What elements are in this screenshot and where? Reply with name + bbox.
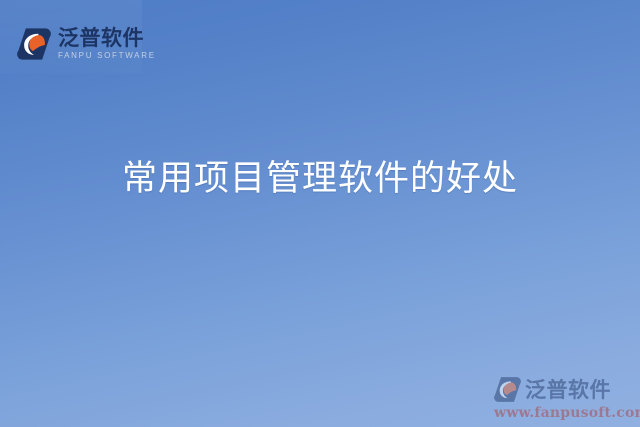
fanpu-hexagon-swoosh-logo-icon (17, 27, 51, 61)
brand-wordmark: 泛普软件 FANPU SOFTWARE (58, 28, 156, 60)
brand-name-en: FANPU SOFTWARE (58, 52, 156, 60)
watermark-url: www.fanpusoft.com (494, 405, 634, 421)
watermark: 泛普软件 www.fanpusoft.com (494, 374, 634, 421)
title-block: 常用项目管理软件的好处 (0, 158, 640, 202)
brand-logo: 泛普软件 FANPU SOFTWARE (17, 27, 156, 61)
presentation-slide: 泛普软件 FANPU SOFTWARE 常用项目管理软件的好处 泛普软件 www… (0, 0, 640, 427)
slide-title: 常用项目管理软件的好处 (0, 158, 640, 202)
brand-name-cn: 泛普软件 (58, 28, 156, 49)
watermark-logo-row: 泛普软件 (494, 374, 634, 404)
watermark-name-cn: 泛普软件 (525, 374, 611, 404)
fanpu-hexagon-swoosh-logo-icon (494, 376, 521, 403)
